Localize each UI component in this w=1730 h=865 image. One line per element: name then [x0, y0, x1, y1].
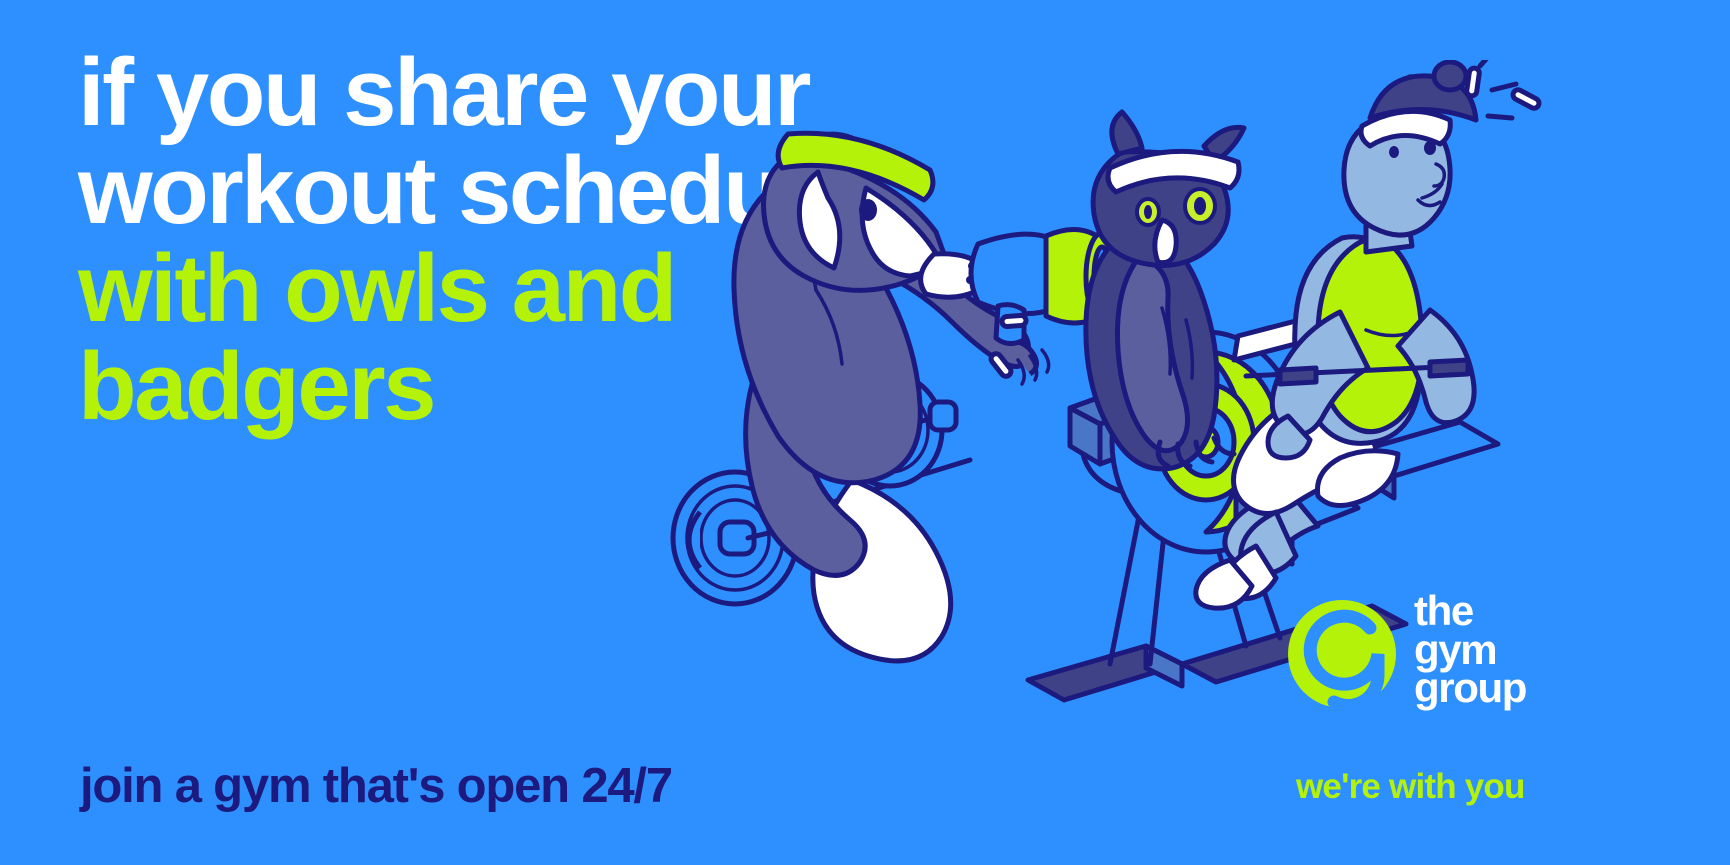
brand-word-the: the [1414, 592, 1526, 631]
brand-wordmark: the gym group [1414, 592, 1526, 708]
gym-group-g-icon [1286, 598, 1398, 710]
brand-logo: the gym group [1286, 592, 1686, 772]
advertisement-canvas: if you share your workout schedule with … [0, 0, 1730, 865]
offer-tagline: join a gym that's open 24/7 [80, 758, 672, 814]
brand-tagline: we're with you [1296, 767, 1525, 807]
brand-word-group: group [1414, 669, 1526, 708]
